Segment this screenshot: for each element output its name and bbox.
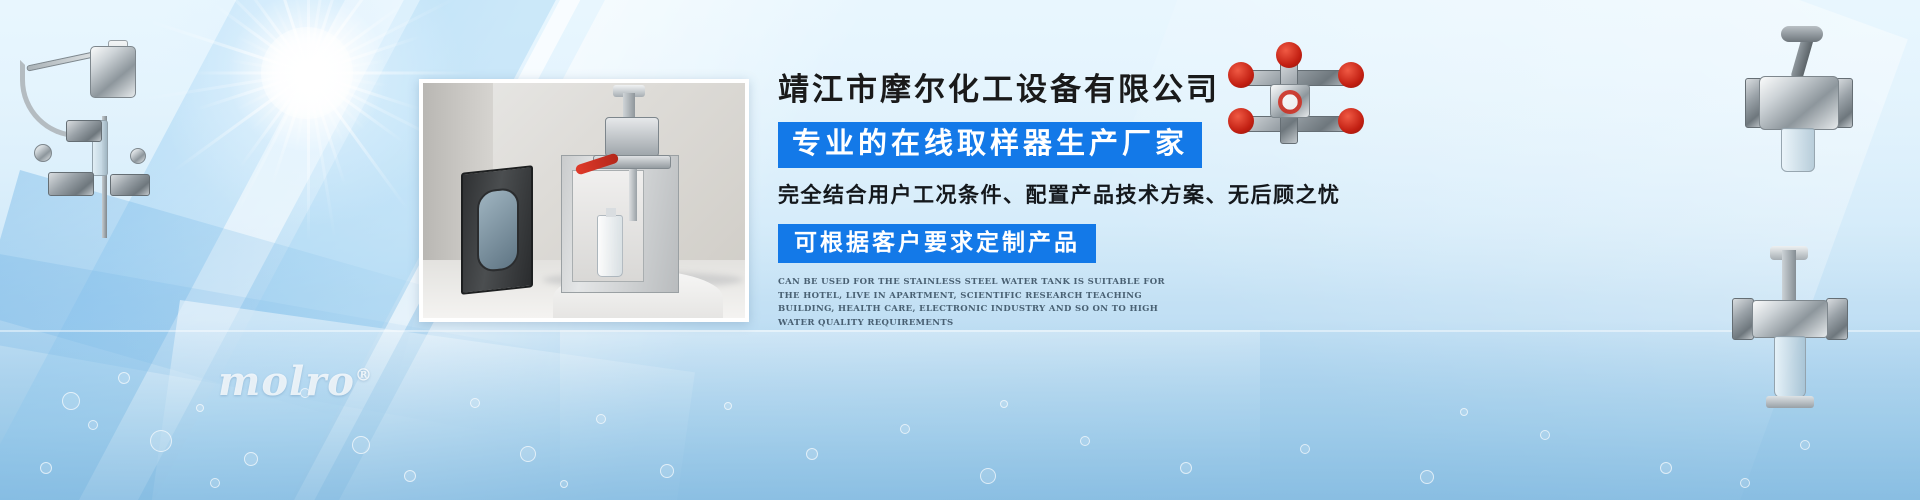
bubble	[1800, 440, 1810, 450]
sun-ray	[309, 72, 477, 75]
photo-door-window	[477, 187, 519, 273]
bubble	[1180, 462, 1192, 474]
probe-knob-left	[34, 144, 52, 162]
background-bottom-band	[0, 320, 1920, 500]
cross-valve-handwheel	[1228, 108, 1254, 134]
bubble	[210, 478, 220, 488]
bubble	[900, 424, 910, 434]
bubble	[560, 480, 568, 488]
background-horizon-line	[0, 330, 1920, 332]
cross-valve-handwheel	[1228, 62, 1254, 88]
sun-ray	[191, 72, 309, 75]
probe-knob-right	[130, 148, 146, 164]
bubble	[980, 468, 996, 484]
sun-ray	[307, 73, 310, 241]
bubble	[1660, 462, 1672, 474]
cross-valve-handwheel	[1276, 42, 1302, 68]
cross-valve-handwheel	[1338, 108, 1364, 134]
bubble	[244, 452, 258, 466]
tagline-custom-badge: 可根据客户要求定制产品	[778, 224, 1096, 263]
sun-ray	[307, 72, 408, 210]
bubble	[806, 448, 818, 460]
bubble	[62, 392, 80, 410]
product-photo-frame	[419, 79, 749, 322]
bubble	[1420, 470, 1434, 484]
lower-valve-flange-left	[1732, 298, 1754, 340]
photo-cabinet-door	[461, 165, 533, 295]
lever-handle-valve-graphic	[1745, 30, 1865, 180]
photo-sample-bottle	[597, 215, 623, 277]
brand-watermark: molro®	[218, 358, 373, 405]
bubble	[1000, 400, 1008, 408]
inline-sight-glass-valve-graphic	[1730, 250, 1870, 420]
cross-valve-logo-icon	[1278, 90, 1302, 114]
bubble	[470, 398, 480, 408]
photo-valve-body	[605, 117, 659, 157]
brand-watermark-text: molro	[218, 358, 355, 405]
lower-valve-sight-glass	[1774, 336, 1806, 398]
probe-head	[90, 46, 136, 98]
bubble	[118, 372, 130, 384]
lower-valve-base	[1766, 396, 1814, 408]
valve-sight-glass	[1781, 128, 1815, 172]
photo-cabinet	[561, 155, 679, 293]
cross-valve-handwheel	[1338, 62, 1364, 88]
tagline-subtitle: 完全结合用户工况条件、配置产品技术方案、无后顾之忧	[778, 182, 1398, 210]
cross-valve-manifold-graphic	[1222, 40, 1372, 155]
promo-banner: 靖江市摩尔化工设备有限公司 专业的在线取样器生产厂家 完全结合用户工况条件、配置…	[0, 0, 1920, 500]
probe-valve-left	[48, 172, 94, 196]
bubble	[196, 404, 204, 412]
bubble	[724, 402, 732, 410]
sun-ray	[172, 72, 310, 173]
bubble	[596, 414, 606, 424]
valve-lever-grip	[1781, 26, 1823, 42]
probe-valve-right	[110, 174, 150, 196]
bubble	[1540, 430, 1550, 440]
bubble	[1460, 408, 1468, 416]
english-description: CAN BE USED FOR THE STAINLESS STEEL WATE…	[778, 276, 1173, 330]
bubble	[520, 446, 536, 462]
lower-valve-flange-right	[1826, 298, 1848, 340]
bubble	[1080, 436, 1090, 446]
valve-body	[1759, 76, 1839, 130]
bubble	[40, 462, 52, 474]
bubble	[660, 464, 674, 478]
bubble	[352, 436, 370, 454]
bubble	[1300, 444, 1310, 454]
lower-valve-stem	[1782, 250, 1796, 304]
bubble	[404, 470, 416, 482]
bubble	[1740, 478, 1750, 488]
tagline-main-badge: 专业的在线取样器生产厂家	[778, 122, 1202, 168]
sampling-probe-assembly-graphic	[10, 24, 160, 239]
bubble	[88, 420, 98, 430]
product-photo	[423, 83, 745, 318]
probe-valve-upper	[66, 120, 102, 142]
lower-valve-body	[1752, 300, 1828, 338]
registered-mark-icon: ®	[355, 366, 373, 386]
photo-tube	[629, 169, 637, 221]
bubble	[150, 430, 172, 452]
